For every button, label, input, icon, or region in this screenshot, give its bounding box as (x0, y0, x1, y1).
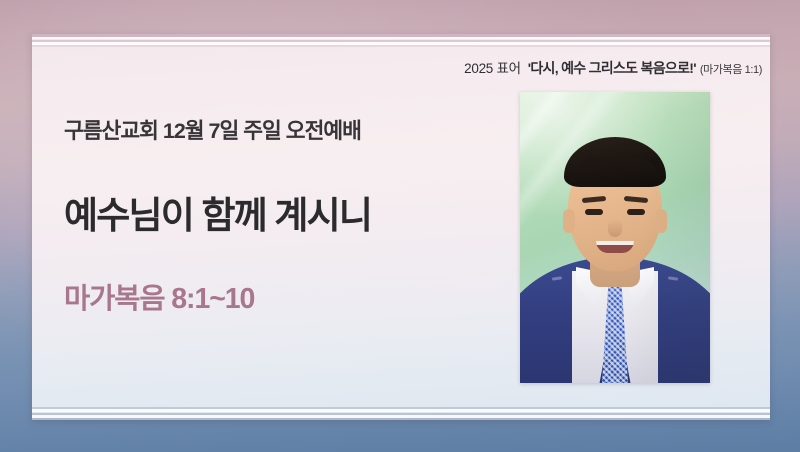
sermon-title: 예수님이 함께 계시니 (64, 194, 484, 238)
panel-molding-bottom (32, 406, 770, 420)
portrait-eye-left (585, 209, 603, 215)
scripture-reference: 마가복음 8:1~10 (64, 282, 484, 316)
motto-reference: (마가복음 1:1) (700, 61, 762, 77)
service-line: 구름산교회 12월 7일 주일 오전예배 (64, 118, 484, 145)
portrait-mouth (596, 241, 634, 253)
panel-molding-top (32, 34, 770, 48)
portrait-eye-right (627, 209, 645, 215)
motto-quote: '다시, 예수 그리스도 복음으로!' (528, 58, 696, 78)
worship-slide: 2025 표어 '다시, 예수 그리스도 복음으로!' (마가복음 1:1) 구… (0, 0, 800, 452)
portrait-nose (608, 219, 622, 237)
sermon-text-block: 구름산교회 12월 7일 주일 오전예배 예수님이 함께 계시니 마가복음 8:… (64, 118, 484, 316)
portrait-ear-right (655, 209, 667, 233)
portrait-eyebrow-left (582, 196, 606, 203)
portrait-eyebrow-right (624, 196, 648, 203)
portrait-ear-left (563, 209, 575, 233)
motto-year-label: 2025 표어 (464, 57, 521, 77)
preacher-portrait-photo (520, 92, 710, 383)
year-motto: 2025 표어 '다시, 예수 그리스도 복음으로!' (마가복음 1:1) (464, 57, 762, 78)
